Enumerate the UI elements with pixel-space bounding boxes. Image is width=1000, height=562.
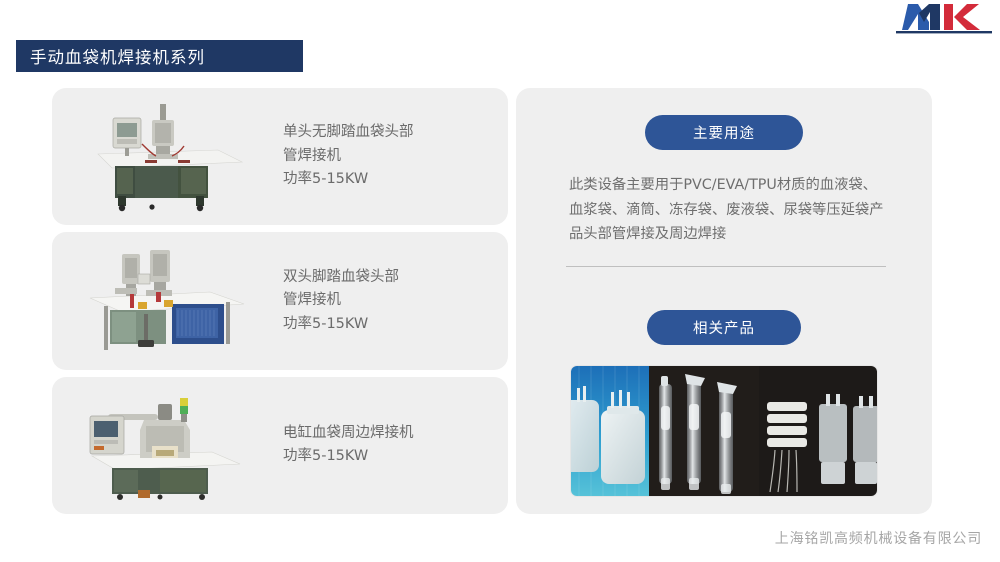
- product-description: 双头脚踏血袋头部 管焊接机 功率5-15KW: [277, 266, 508, 336]
- product-line: 功率5-15KW: [283, 445, 498, 468]
- product-card[interactable]: 电缸血袋周边焊接机 功率5-15KW: [52, 377, 508, 514]
- info-panel: 主要用途 此类设备主要用于PVC/EVA/TPU材质的血液袋、血浆袋、滴筒、冻存…: [516, 88, 932, 514]
- main-use-pill[interactable]: 主要用途: [645, 115, 803, 150]
- product-card[interactable]: 单头无脚踏血袋头部 管焊接机 功率5-15KW: [52, 88, 508, 225]
- cylinder-welder-photo: [52, 377, 277, 514]
- footer-company-name: 上海铭凯高频机械设备有限公司: [775, 528, 982, 548]
- related-products-label: 相关产品: [693, 317, 755, 338]
- single-head-welder-photo: [52, 88, 277, 225]
- product-line: 管焊接机: [283, 289, 498, 312]
- page-title-banner: 手动血袋机焊接机系列: [16, 40, 303, 72]
- slide-root: 手动血袋机焊接机系列: [0, 0, 1000, 562]
- section-divider: [566, 266, 886, 267]
- logo-letter-k: [944, 4, 980, 30]
- company-logo: [896, 0, 992, 34]
- product-line: 双头脚踏血袋头部: [283, 266, 498, 289]
- logo-underline: [896, 31, 992, 33]
- usage-description: 此类设备主要用于PVC/EVA/TPU材质的血液袋、血浆袋、滴筒、冻存袋、废液袋…: [569, 173, 889, 247]
- double-head-welder-photo: [52, 232, 277, 369]
- related-products-pill[interactable]: 相关产品: [647, 310, 801, 345]
- page-title: 手动血袋机焊接机系列: [16, 44, 205, 68]
- main-use-label: 主要用途: [693, 122, 755, 143]
- product-line: 管焊接机: [283, 145, 498, 168]
- logo-letter-m: [902, 4, 940, 30]
- product-description: 单头无脚踏血袋头部 管焊接机 功率5-15KW: [277, 121, 508, 191]
- product-card[interactable]: 双头脚踏血袋头部 管焊接机 功率5-15KW: [52, 232, 508, 369]
- product-line: 电缸血袋周边焊接机: [283, 422, 498, 445]
- product-list: 单头无脚踏血袋头部 管焊接机 功率5-15KW: [52, 88, 508, 514]
- product-description: 电缸血袋周边焊接机 功率5-15KW: [277, 422, 508, 469]
- product-line: 功率5-15KW: [283, 313, 498, 336]
- product-line: 单头无脚踏血袋头部: [283, 121, 498, 144]
- related-products-photo: [571, 366, 877, 496]
- product-line: 功率5-15KW: [283, 168, 498, 191]
